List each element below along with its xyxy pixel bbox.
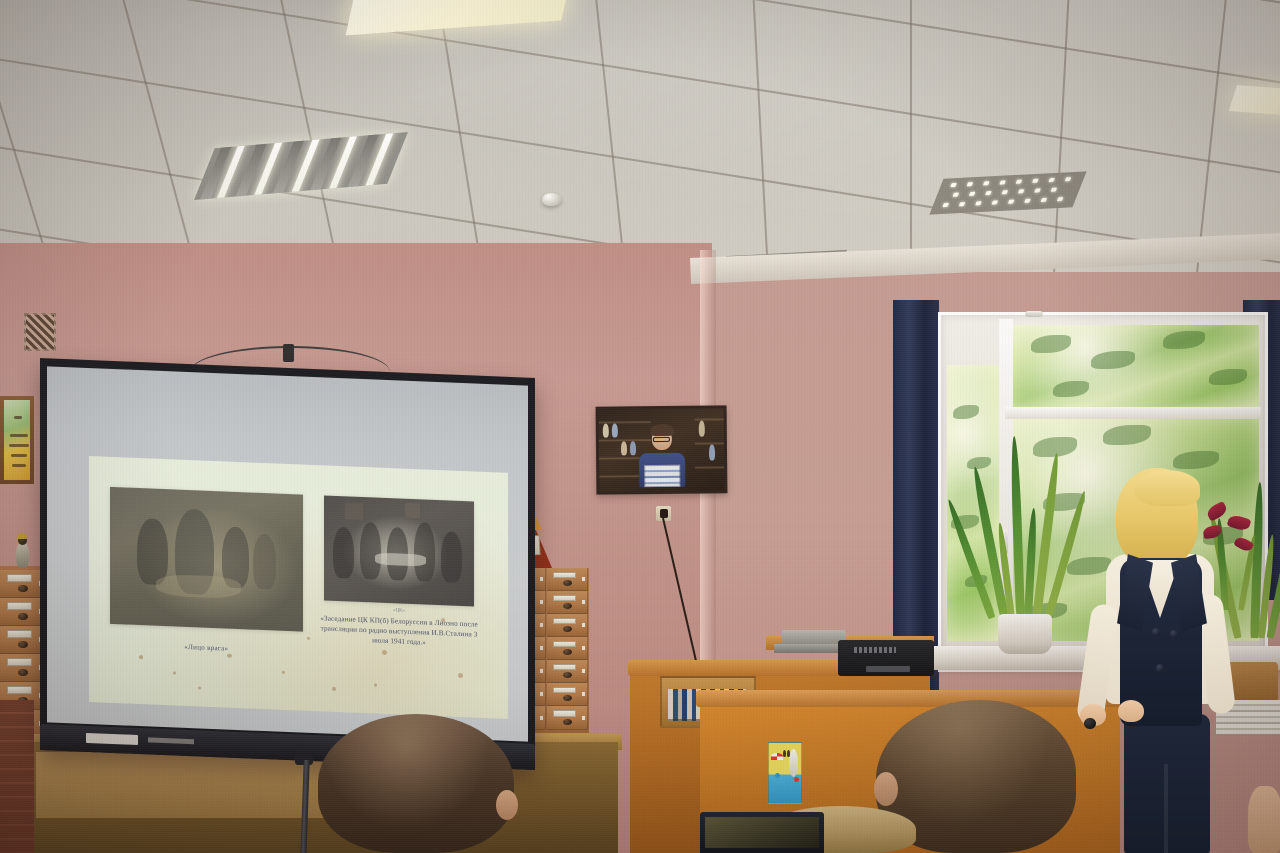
decorative-figurine xyxy=(12,534,34,568)
slide-caption-right: «Заседание ЦК КП(б) Белоруссии в Лиозно … xyxy=(319,613,478,651)
student-ear xyxy=(874,772,898,806)
childrens-beach-drawing xyxy=(768,742,802,804)
library-portrait-photo xyxy=(596,405,728,494)
framed-picture-image xyxy=(4,400,30,480)
slide-caption-left: «Лицо врага» xyxy=(131,640,282,656)
snake-plant-left xyxy=(980,432,1070,654)
glasses-icon xyxy=(653,437,670,442)
screen-brand-label xyxy=(86,733,138,745)
window-transom-bar xyxy=(1005,407,1261,419)
umbrella-icon xyxy=(771,753,783,760)
student-hand xyxy=(1248,786,1280,853)
catalog-drawer[interactable] xyxy=(547,683,588,706)
slide-image-left xyxy=(110,486,303,631)
vest-button-low xyxy=(1156,664,1164,672)
catalog-drawer[interactable] xyxy=(547,568,588,591)
smoke-detector-icon xyxy=(542,193,561,206)
window-pane-top xyxy=(1013,325,1259,409)
screen-frame: «ЦК» «Заседание ЦК КП(б) Белоруссии в Ли… xyxy=(40,358,535,770)
student-ear xyxy=(496,790,518,820)
library-portrait-image xyxy=(599,408,725,491)
presenter-hair-fringe xyxy=(1134,470,1200,506)
screen-model-label xyxy=(148,737,194,744)
framed-picture xyxy=(0,396,34,484)
monitor-brand-logo xyxy=(854,647,896,653)
classroom-scene: ЧИТАЙ НАМ xyxy=(0,0,1280,853)
catalog-drawer[interactable] xyxy=(547,614,588,637)
student-hair xyxy=(318,714,514,853)
slide-image-right xyxy=(324,495,475,607)
presenter-teacher[interactable] xyxy=(1078,468,1238,853)
student-foreground-left xyxy=(318,714,514,853)
presentation-remote[interactable] xyxy=(1084,718,1096,729)
brick-column xyxy=(0,700,34,853)
vest-button-mid xyxy=(1170,630,1178,638)
catalog-drawer[interactable] xyxy=(547,660,588,683)
plant-pot-left xyxy=(998,614,1052,654)
surfboard-icon xyxy=(789,749,798,777)
window-top-latch[interactable] xyxy=(1025,311,1043,317)
desk-front-panel xyxy=(36,752,326,818)
desktop-monitor[interactable] xyxy=(838,640,934,676)
presenter-leg-split xyxy=(1164,764,1168,853)
catalog-drawer[interactable] xyxy=(547,637,588,660)
portrait-hair xyxy=(651,424,674,436)
laptop-display xyxy=(705,817,819,848)
presentation-slide: «ЦК» «Заседание ЦК КП(б) Белоруссии в Ли… xyxy=(89,456,508,719)
pull-down-projector-screen[interactable]: «ЦК» «Заседание ЦК КП(б) Белоруссии в Ли… xyxy=(40,368,535,760)
laptop-screen[interactable] xyxy=(700,812,824,853)
vest-button-top xyxy=(1152,628,1160,636)
ventilation-grille-icon xyxy=(24,313,56,351)
monitor-stand-strip xyxy=(866,666,910,672)
screen-hook[interactable] xyxy=(283,344,294,362)
presenter-hand-right xyxy=(1118,700,1144,722)
screen-surface: «ЦК» «Заседание ЦК КП(б) Белоруссии в Ли… xyxy=(47,366,528,741)
catalog-drawer[interactable] xyxy=(547,706,588,730)
av-equipment-tray xyxy=(774,644,848,653)
catalog-drawer[interactable] xyxy=(547,591,588,614)
portrait-book-stack xyxy=(644,465,680,487)
